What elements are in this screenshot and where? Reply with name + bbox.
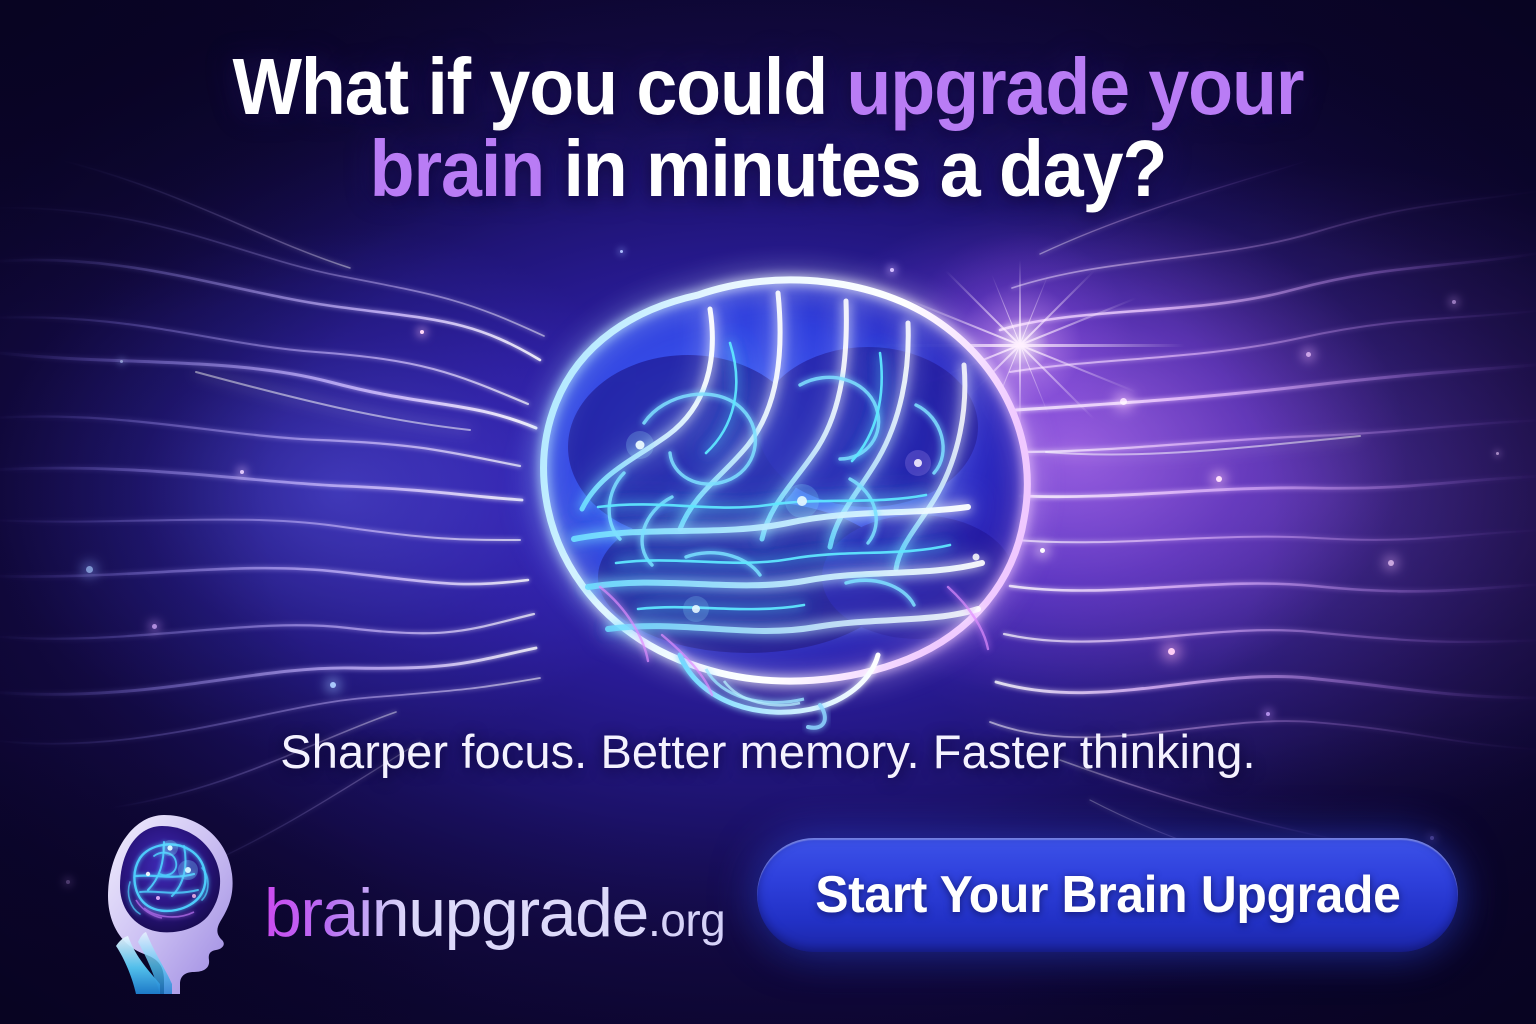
wordmark-brain: brain — [264, 875, 408, 951]
wordmark-tld: .org — [648, 894, 725, 946]
head-brain-profile-icon[interactable] — [102, 812, 242, 994]
headline-line2-plain: in minutes a day? — [544, 124, 1166, 213]
headline-line1-accent: upgrade your — [846, 42, 1303, 131]
headline-line2-accent: brain — [370, 124, 544, 213]
start-brain-upgrade-button[interactable]: Start Your Brain Upgrade — [757, 838, 1458, 952]
wordmark-upgrade: upgrade — [408, 875, 648, 951]
headline: What if you could upgrade your brain in … — [61, 46, 1474, 209]
headline-line1-plain: What if you could — [233, 42, 847, 131]
cta-label: Start Your Brain Upgrade — [815, 865, 1400, 925]
brand-bar: brainupgrade.org — [102, 812, 725, 994]
advertisement-banner: What if you could upgrade your brain in … — [0, 0, 1536, 1024]
brand-wordmark[interactable]: brainupgrade.org — [264, 879, 725, 947]
tagline: Sharper focus. Better memory. Faster thi… — [0, 724, 1536, 779]
